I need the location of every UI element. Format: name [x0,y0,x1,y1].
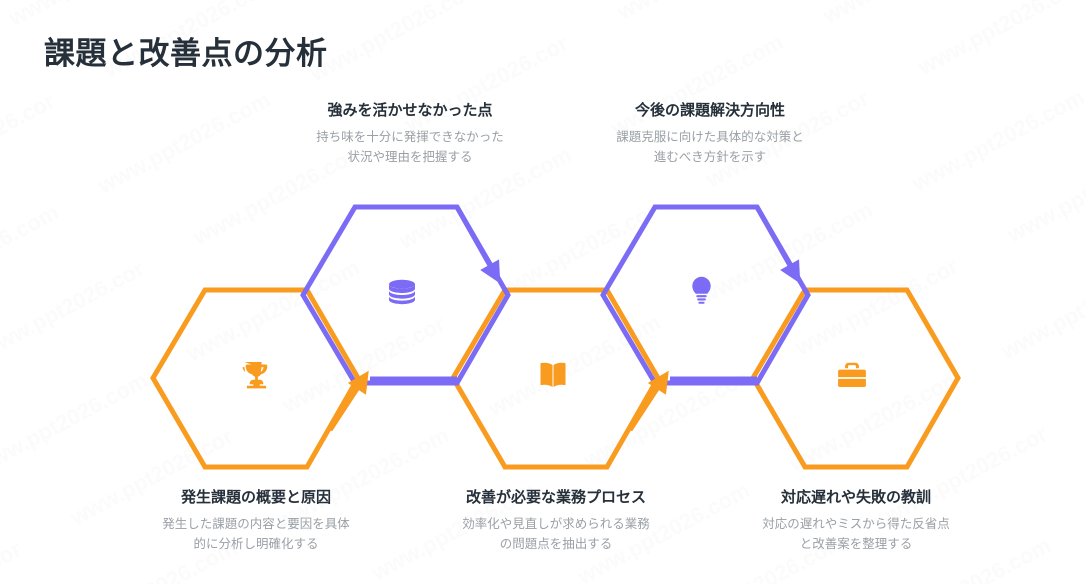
lightbulb-icon [692,277,710,304]
hex-node-1[interactable] [153,290,358,467]
connector-arrow-1 [330,378,364,430]
database-stack-icon [389,280,415,304]
hexagon-outline-3 [453,290,658,467]
connector-arrow-3 [630,378,664,430]
hex-node-3[interactable] [453,290,658,467]
trophy-icon [243,362,268,388]
slide-canvas: 課題と改善点の分析 [0,0,1086,584]
hexagon-outline-4 [603,207,808,383]
connector-arrow-4 [757,207,796,276]
hex-node-4[interactable] [603,207,808,383]
connector-arrow-2 [457,207,496,276]
hexagon-outline-2 [303,207,508,383]
hexagon-outline-5 [753,290,958,467]
hex-node-5[interactable] [753,290,958,467]
hexagon-outline-1 [153,290,358,467]
briefcase-icon [838,363,866,387]
hexagon-flow-graphic [0,0,1086,584]
hex-node-2[interactable] [303,207,508,383]
open-book-icon [541,363,566,387]
